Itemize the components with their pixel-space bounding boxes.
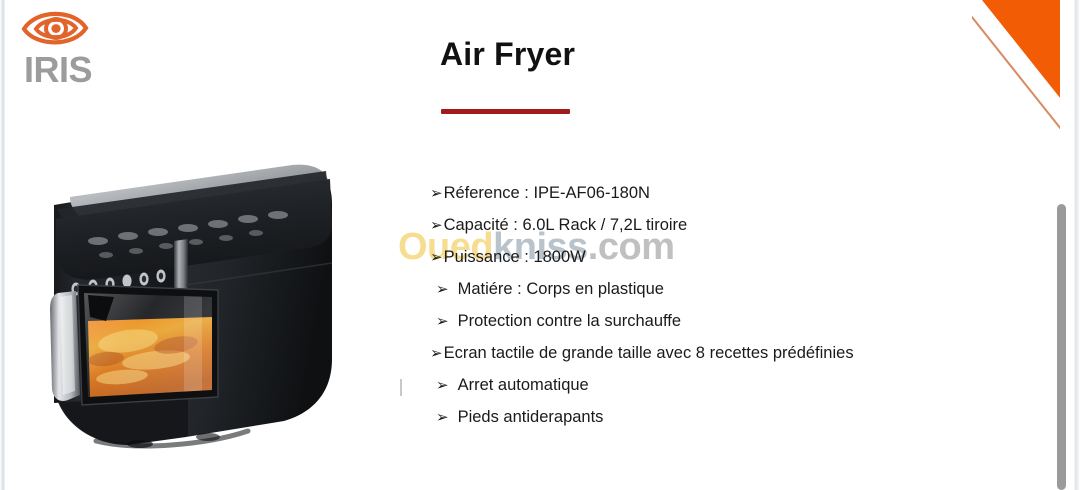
iris-logo: IRIS bbox=[14, 4, 124, 92]
spec-item-label: Puissance : 1800W bbox=[444, 248, 586, 267]
vertical-scrollbar-thumb[interactable] bbox=[1057, 204, 1066, 490]
spec-item-power: ➢ Puissance : 1800W bbox=[430, 248, 1030, 280]
page-left-edge bbox=[0, 0, 5, 490]
vertical-scrollbar-track[interactable] bbox=[1060, 0, 1074, 490]
spec-item-overheat-protection: ➢ Protection contre la surchauffe bbox=[430, 312, 1030, 344]
spec-item-label: Ecran tactile de grande taille avec 8 re… bbox=[444, 344, 854, 363]
bullet-arrow-icon: ➢ bbox=[430, 250, 443, 265]
bullet-arrow-icon: ➢ bbox=[436, 314, 449, 329]
bullet-arrow-icon: ➢ bbox=[430, 186, 443, 201]
spec-item-label: Arret automatique bbox=[458, 376, 589, 395]
spec-item-label: Capacité : 6.0L Rack / 7,2L tiroire bbox=[444, 216, 688, 235]
product-slide: IRIS bbox=[0, 0, 1080, 490]
bullet-arrow-icon: ➢ bbox=[430, 346, 443, 361]
text-caret-artifact bbox=[400, 379, 402, 396]
spec-item-nonslip-feet: ➢ Pieds antiderapants bbox=[430, 408, 1030, 440]
bullet-arrow-icon: ➢ bbox=[436, 378, 449, 393]
title-underline-rule bbox=[441, 109, 570, 114]
spec-item-material: ➢ Matiére : Corps en plastique bbox=[430, 280, 1030, 312]
spec-list: ➢ Réference : IPE-AF06-180N ➢ Capacité :… bbox=[430, 184, 1030, 440]
spec-item-auto-stop: ➢ Arret automatique bbox=[430, 376, 1030, 408]
spec-item-label: Pieds antiderapants bbox=[458, 408, 604, 427]
spec-item-label: Matiére : Corps en plastique bbox=[458, 280, 664, 299]
page-right-edge bbox=[1074, 0, 1080, 490]
bullet-arrow-icon: ➢ bbox=[436, 410, 449, 425]
bullet-arrow-icon: ➢ bbox=[436, 282, 449, 297]
spec-item-label: Réference : IPE-AF06-180N bbox=[444, 184, 650, 203]
spec-item-label: Protection contre la surchauffe bbox=[458, 312, 682, 331]
page-title: Air Fryer bbox=[440, 36, 575, 73]
iris-wordmark: IRIS bbox=[24, 52, 92, 88]
spec-item-reference: ➢ Réference : IPE-AF06-180N bbox=[430, 184, 1030, 216]
air-fryer-product-image bbox=[36, 145, 356, 455]
spec-item-touchscreen: ➢ Ecran tactile de grande taille avec 8 … bbox=[430, 344, 1030, 376]
bullet-arrow-icon: ➢ bbox=[430, 218, 443, 233]
spec-item-capacity: ➢ Capacité : 6.0L Rack / 7,2L tiroire bbox=[430, 216, 1030, 248]
iris-eye-logo-icon bbox=[14, 4, 124, 52]
